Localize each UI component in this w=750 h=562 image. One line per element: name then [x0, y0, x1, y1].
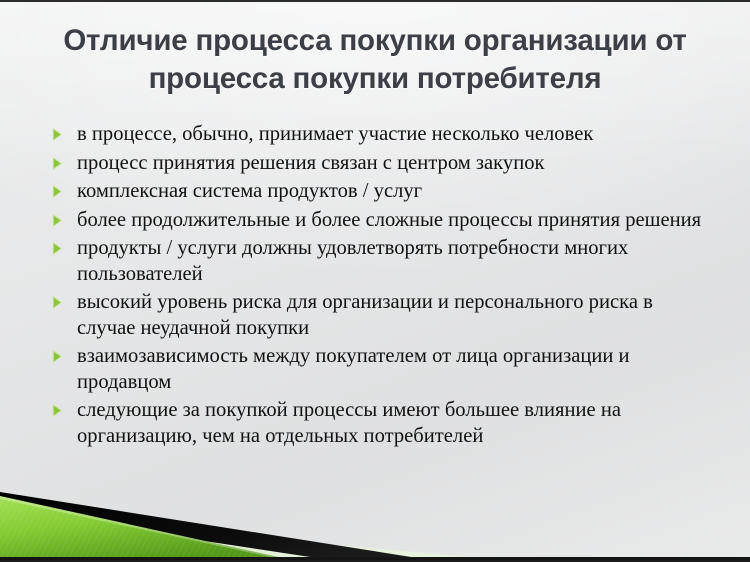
bullet-list: в процессе, обычно, принимает участие не… [44, 122, 709, 452]
bullet-arrow-icon [50, 295, 65, 310]
list-item: следующие за покупкой процессы имеют бол… [44, 398, 709, 449]
bullet-arrow-icon [50, 127, 65, 142]
list-item: более продолжительные и более сложные пр… [44, 208, 709, 234]
bullet-arrow-icon [50, 184, 65, 199]
list-item: комплексная система продуктов / услуг [44, 179, 709, 205]
list-item-label: процесс принятия решения связан с центро… [77, 151, 709, 177]
list-item: процесс принятия решения связан с центро… [44, 151, 709, 177]
slide-title-block: Отличие процесса покупки организации от … [36, 22, 714, 98]
list-item-label: взаимозависимость между покупателем от л… [77, 344, 709, 395]
slide-decoration-bottom [0, 452, 750, 560]
bullet-arrow-icon [50, 213, 65, 228]
presentation-slide: Отличие процесса покупки организации от … [0, 0, 750, 562]
bullet-arrow-icon [50, 349, 65, 364]
list-item-label: комплексная система продуктов / услуг [77, 179, 709, 205]
list-item: взаимозависимость между покупателем от л… [44, 344, 709, 395]
list-item: в процессе, обычно, принимает участие не… [44, 122, 709, 148]
list-item-label: в процессе, обычно, принимает участие не… [77, 122, 709, 148]
page-title: Отличие процесса покупки организации от … [36, 22, 714, 98]
list-item-label: высокий уровень риска для организации и … [77, 290, 709, 341]
bullet-arrow-icon [50, 241, 65, 256]
list-item-label: продукты / услуги должны удовлетворять п… [77, 236, 709, 287]
bullet-arrow-icon [50, 403, 65, 418]
list-item: высокий уровень риска для организации и … [44, 290, 709, 341]
list-item: продукты / услуги должны удовлетворять п… [44, 236, 709, 287]
slide-bottom-rule [0, 557, 750, 560]
list-item-label: следующие за покупкой процессы имеют бол… [77, 398, 709, 449]
list-item-label: более продолжительные и более сложные пр… [77, 208, 709, 234]
bullet-arrow-icon [50, 156, 65, 171]
